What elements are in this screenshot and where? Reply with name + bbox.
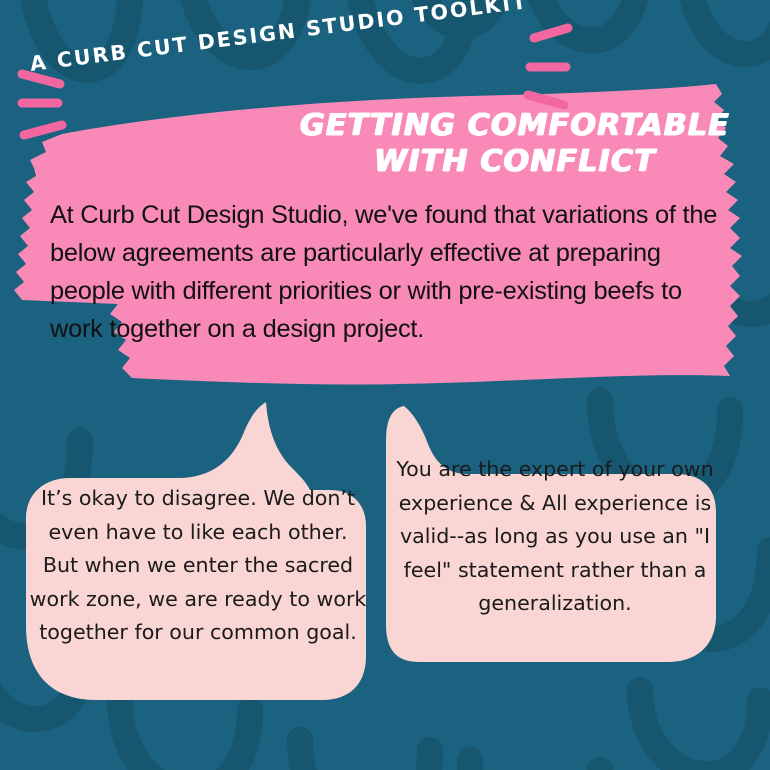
page-title: GETTING COMFORTABLE WITH CONFLICT xyxy=(300,108,730,180)
headline-line-1: GETTING COMFORTABLE xyxy=(300,108,730,144)
bubble-left-text: It’s okay to disagree. We don’t even hav… xyxy=(28,482,368,650)
bubble-right-text: You are the expert of your own experienc… xyxy=(385,453,725,621)
poster-canvas: A CURB CUT DESIGN STUDIO TOOLKIT GETTING… xyxy=(0,0,770,770)
headline-line-2: WITH CONFLICT xyxy=(300,144,730,180)
banner-body-text: At Curb Cut Design Studio, we've found t… xyxy=(50,196,740,348)
